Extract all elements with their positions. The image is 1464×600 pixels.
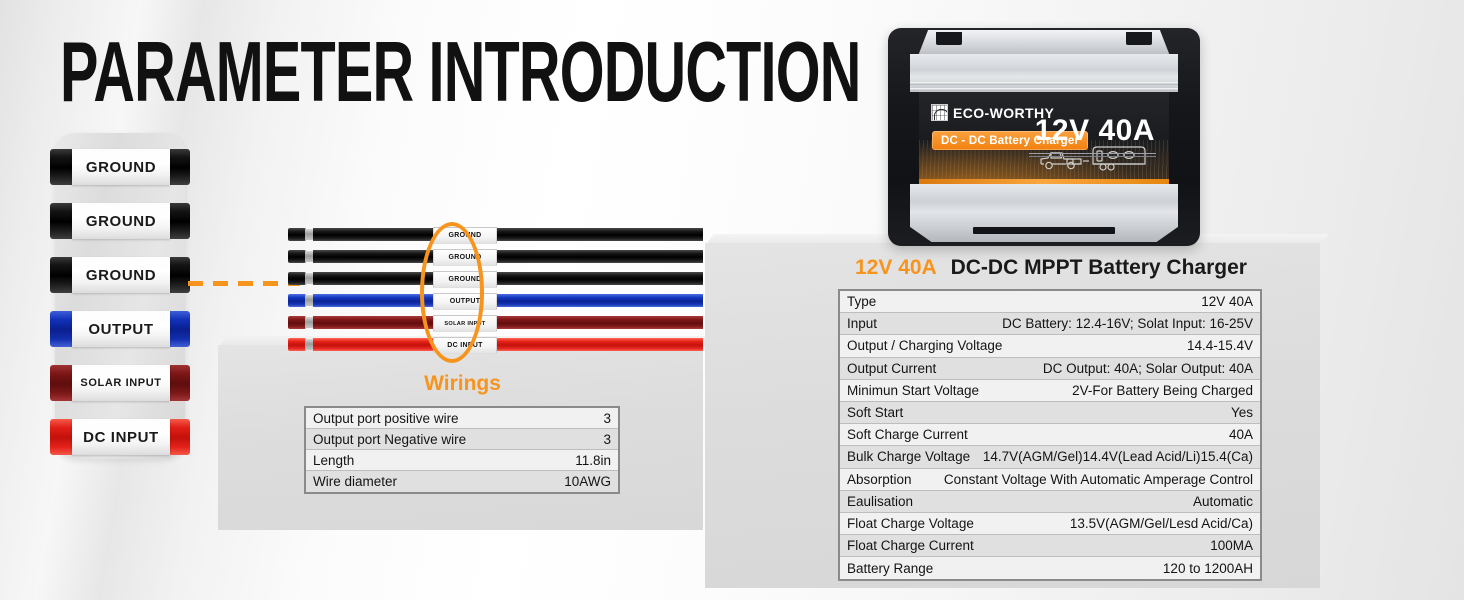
wire-label-row: GROUND bbox=[50, 257, 190, 293]
page-title: PARAMETER INTRODUCTION bbox=[60, 30, 861, 115]
wire-body bbox=[313, 316, 703, 329]
dashed-connector-line bbox=[188, 281, 300, 286]
wire-label-tag: DC INPUT bbox=[72, 419, 170, 455]
table-cell-key: Soft Start bbox=[847, 405, 903, 420]
wire-label-tag: OUTPUT bbox=[72, 311, 170, 347]
wire-label-text: GROUND bbox=[86, 159, 156, 176]
table-cell-value: Yes bbox=[1231, 405, 1253, 420]
table-cell-key: Length bbox=[313, 453, 354, 468]
wire-label-tag: SOLAR INPUT bbox=[72, 365, 170, 401]
wire-label-text: OUTPUT bbox=[88, 321, 153, 338]
table-row: Length11.8in bbox=[306, 450, 618, 471]
table-row: Output port Negative wire3 bbox=[306, 429, 618, 450]
wire-label-row: SOLAR INPUT bbox=[50, 365, 190, 401]
spec-heading-rest: DC-DC MPPT Battery Charger bbox=[951, 256, 1247, 279]
device-ridge-2 bbox=[910, 88, 1178, 91]
infographic-stage: PARAMETER INTRODUCTION GROUNDGROUNDGROUN… bbox=[0, 0, 1464, 600]
table-cell-value: 14.7V(AGM/Gel)14.4V(Lead Acid/Li)15.4(Ca… bbox=[983, 449, 1253, 464]
table-cell-key: Minimun Start Voltage bbox=[847, 383, 979, 398]
wire-tip bbox=[288, 272, 306, 285]
wire-body bbox=[313, 250, 703, 263]
wire-label-text: GROUND bbox=[86, 213, 156, 230]
device-upper-plate bbox=[910, 54, 1178, 92]
table-row: Output / Charging Voltage14.4-15.4V bbox=[840, 335, 1260, 357]
table-row: Float Charge Voltage13.5V(AGM/Gel/Lesd A… bbox=[840, 513, 1260, 535]
table-cell-value: 3 bbox=[603, 432, 611, 447]
wire-label-text: SOLAR INPUT bbox=[80, 377, 161, 389]
wire: SOLAR INPUT bbox=[288, 316, 703, 329]
table-cell-key: Float Charge Current bbox=[847, 538, 974, 553]
wire-label-tag: GROUND bbox=[72, 257, 170, 293]
spec-table: Type12V 40AInputDC Battery: 12.4-16V; So… bbox=[838, 289, 1262, 581]
fin-notch-right bbox=[1126, 32, 1152, 45]
wire-label-text: GROUND bbox=[86, 267, 156, 284]
wire: GROUND bbox=[288, 272, 703, 285]
table-cell-key: Absorption bbox=[847, 472, 912, 487]
table-cell-key: Soft Charge Current bbox=[847, 427, 968, 442]
table-cell-value: 10AWG bbox=[564, 474, 611, 489]
wire-label-row: DC INPUT bbox=[50, 419, 190, 455]
table-row: Battery Range120 to 1200AH bbox=[840, 557, 1260, 579]
table-cell-key: Battery Range bbox=[847, 561, 933, 576]
device-rating-underline bbox=[1029, 153, 1156, 157]
table-cell-key: Type bbox=[847, 294, 876, 309]
eco-worthy-logo-icon bbox=[931, 104, 948, 121]
wire: DC INPUT bbox=[288, 338, 703, 351]
device-foot-slot bbox=[973, 227, 1115, 234]
highlight-oval bbox=[420, 222, 484, 363]
spec-heading-accent: 12V 40A bbox=[855, 256, 937, 279]
table-cell-key: Float Charge Voltage bbox=[847, 516, 974, 531]
table-cell-value: 13.5V(AGM/Gel/Lesd Acid/Ca) bbox=[1070, 516, 1253, 531]
table-cell-value: Automatic bbox=[1193, 494, 1253, 509]
wire: GROUND bbox=[288, 250, 703, 263]
table-row: Soft Charge Current40A bbox=[840, 424, 1260, 446]
table-cell-key: Bulk Charge Voltage bbox=[847, 449, 970, 464]
table-cell-value: 11.8in bbox=[575, 453, 611, 468]
table-cell-value: 100MA bbox=[1210, 538, 1253, 553]
wire-tip bbox=[288, 338, 306, 351]
wire-tip bbox=[288, 316, 306, 329]
table-cell-value: 12V 40A bbox=[1201, 294, 1253, 309]
wire-label-list: GROUNDGROUNDGROUNDOUTPUTSOLAR INPUTDC IN… bbox=[55, 133, 185, 459]
table-row: EaulisationAutomatic bbox=[840, 491, 1260, 513]
table-cell-key: Output Current bbox=[847, 361, 936, 376]
table-cell-key: Input bbox=[847, 316, 877, 331]
table-cell-key: Output / Charging Voltage bbox=[847, 338, 1002, 353]
device-ridge-1 bbox=[910, 82, 1178, 85]
wirings-title: Wirings bbox=[305, 372, 620, 396]
wire-tip bbox=[288, 250, 306, 263]
wire-body bbox=[313, 294, 703, 307]
wire-label-tag: GROUND bbox=[72, 203, 170, 239]
table-cell-key: Output port positive wire bbox=[313, 411, 459, 426]
wire: OUTPUT bbox=[288, 294, 703, 307]
table-cell-value: DC Output: 40A; Solar Output: 40A bbox=[1043, 361, 1253, 376]
table-row: Type12V 40A bbox=[840, 291, 1260, 313]
table-cell-value: DC Battery: 12.4-16V; Solat Input: 16-25… bbox=[1002, 316, 1253, 331]
wire-body bbox=[313, 228, 703, 241]
spec-heading: 12V 40A DC-DC MPPT Battery Charger bbox=[855, 256, 1247, 280]
wire-label-row: OUTPUT bbox=[50, 311, 190, 347]
product-device-image: ECO-WORTHY DC - DC Battery Charger 12V 4… bbox=[888, 28, 1200, 246]
device-rating-text: 12V 40A bbox=[1035, 114, 1155, 148]
wire-body bbox=[313, 338, 703, 351]
table-cell-value: 2V-For Battery Being Charged bbox=[1072, 383, 1253, 398]
table-cell-key: Eaulisation bbox=[847, 494, 913, 509]
table-cell-key: Wire diameter bbox=[313, 474, 397, 489]
table-cell-value: 120 to 1200AH bbox=[1163, 561, 1253, 576]
table-row: Float Charge Current100MA bbox=[840, 535, 1260, 557]
wire-label-tag: GROUND bbox=[72, 149, 170, 185]
fin-notch-left bbox=[936, 32, 962, 45]
device-orange-bar bbox=[919, 179, 1169, 184]
table-row: Wire diameter10AWG bbox=[306, 471, 618, 492]
table-row: Minimun Start Voltage2V-For Battery Bein… bbox=[840, 380, 1260, 402]
wire-label-row: GROUND bbox=[50, 203, 190, 239]
wire-body bbox=[313, 272, 703, 285]
wire-bundle: GROUNDGROUNDGROUNDOUTPUTSOLAR INPUTDC IN… bbox=[288, 228, 703, 354]
device-front-face: ECO-WORTHY DC - DC Battery Charger 12V 4… bbox=[919, 92, 1169, 184]
table-row: Output port positive wire3 bbox=[306, 408, 618, 429]
logo-arc bbox=[934, 109, 948, 120]
wire: GROUND bbox=[288, 228, 703, 241]
wire-label-row: GROUND bbox=[50, 149, 190, 185]
table-row: Bulk Charge Voltage14.7V(AGM/Gel)14.4V(L… bbox=[840, 446, 1260, 468]
wire-label-text: DC INPUT bbox=[83, 429, 159, 446]
wirings-table: Output port positive wire3Output port Ne… bbox=[304, 406, 620, 494]
table-cell-value: 3 bbox=[603, 411, 611, 426]
table-cell-key: Output port Negative wire bbox=[313, 432, 466, 447]
table-cell-value: 40A bbox=[1229, 427, 1253, 442]
table-row: Output CurrentDC Output: 40A; Solar Outp… bbox=[840, 358, 1260, 380]
table-cell-value: Constant Voltage With Automatic Amperage… bbox=[944, 472, 1253, 487]
table-row: AbsorptionConstant Voltage With Automati… bbox=[840, 469, 1260, 491]
wire-tip bbox=[288, 294, 306, 307]
table-row: InputDC Battery: 12.4-16V; Solat Input: … bbox=[840, 313, 1260, 335]
wire-tip bbox=[288, 228, 306, 241]
table-row: Soft StartYes bbox=[840, 402, 1260, 424]
device-top-fin bbox=[918, 30, 1170, 56]
table-cell-value: 14.4-15.4V bbox=[1187, 338, 1253, 353]
